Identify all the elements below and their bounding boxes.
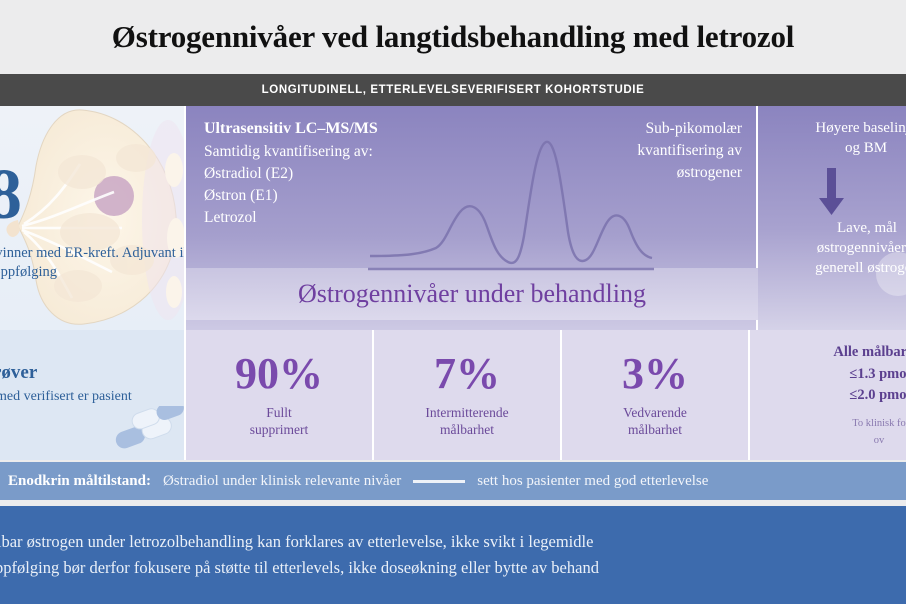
stat-card: 3% Vedvarendemålbarhet	[562, 330, 750, 460]
title-zone: Østrogennivåer ved langtidsbehandling me…	[0, 0, 906, 74]
threshold-panel: Alle målbare ve ≤1.3 pmol/ ≤2.0 pmol/ To…	[750, 330, 906, 460]
stat-label: Fulltsupprimert	[250, 405, 309, 439]
predictor-panel: Høyere baselinjeog BM Lave, måløstrogenn…	[758, 106, 906, 330]
infographic-page: Østrogennivåer ved langtidsbehandling me…	[0, 0, 906, 604]
samples-panel: umprøver prøver med verifisert er pasien…	[0, 330, 186, 460]
analyte-estrone: Østron (E1)	[204, 185, 378, 207]
breast-anatomy-illustration	[0, 106, 186, 330]
decorative-bubble	[876, 252, 906, 296]
down-arrow-icon	[816, 168, 848, 216]
study-type-label: LONGITUDINELL, ETTERLEVELSEVERIFISERT KO…	[262, 84, 645, 96]
stat-card: 7% Intermitterendemålbarhet	[374, 330, 562, 460]
endocrine-highlight-bar: Enodkrin måltilstand: Østradiol under kl…	[0, 462, 906, 500]
banner-label: Østrogennivåer under behandling	[298, 279, 646, 309]
method-text-block: Ultrasensitiv LC–MS/MS Samtidig kvantifi…	[204, 118, 378, 229]
threshold-note-2: ov	[764, 435, 906, 446]
stat-label: Vedvarendemålbarhet	[623, 405, 687, 439]
conclusion-line-2: sk oppfølging bør derfor fokusere på stø…	[0, 555, 906, 581]
threshold-line-1: Alle målbare ve	[762, 344, 906, 361]
study-type-bar: LONGITUDINELL, ETTERLEVELSEVERIFISERT KO…	[0, 74, 906, 106]
lcms-chromatogram-peaks	[366, 128, 656, 278]
highlight-text-left: Østradiol under klinisk relevante nivåer	[163, 473, 401, 490]
cohort-panel: 8 sale kvinner med ER-kreft. Adjuvant il…	[0, 106, 186, 330]
threshold-line-2: ≤1.3 pmol/	[762, 366, 906, 383]
method-subline: Samtidig kvantifisering av:	[204, 141, 378, 163]
stat-label: Intermitterendemålbarhet	[425, 405, 508, 439]
highlight-divider	[413, 480, 465, 483]
highlight-label: Enodkrin måltilstand:	[8, 473, 151, 490]
stat-card: 90% Fulltsupprimert	[186, 330, 374, 460]
samples-title: umprøver	[0, 362, 186, 384]
sensitivity-note: Sub-pikomolærkvantifisering avøstrogener	[637, 118, 742, 184]
analyte-estradiol: Østradiol (E2)	[204, 163, 378, 185]
cohort-description: sale kvinner med ER-kreft. Adjuvant il 6…	[0, 244, 186, 281]
page-title: Østrogennivåer ved langtidsbehandling me…	[112, 19, 794, 55]
threshold-line-3: ≤2.0 pmol/	[762, 387, 906, 404]
method-heading: Ultrasensitiv LC–MS/MS	[204, 118, 378, 141]
samples-subtitle: prøver med verifisert er pasient	[0, 388, 186, 406]
stat-value: 90%	[235, 352, 323, 396]
predictor-top-text: Høyere baselinjeog BM	[766, 118, 906, 158]
analyte-letrozole: Letrozol	[204, 207, 378, 229]
stat-value: 3%	[622, 352, 688, 396]
conclusion-line-1: l målbar østrogen under letrozolbehandli…	[0, 529, 906, 555]
conclusion-bar: l målbar østrogen under letrozolbehandli…	[0, 506, 906, 604]
highlight-content: Enodkrin måltilstand: Østradiol under kl…	[0, 473, 708, 490]
statistics-row: umprøver prøver med verifisert er pasien…	[0, 330, 906, 460]
pill-capsules-icon	[110, 406, 186, 450]
highlight-text-right: sett hos pasienter med god etterlevelse	[477, 473, 708, 490]
cohort-count: 8	[0, 158, 22, 230]
threshold-note-1: To klinisk fo	[764, 418, 906, 429]
stat-value: 7%	[434, 352, 500, 396]
